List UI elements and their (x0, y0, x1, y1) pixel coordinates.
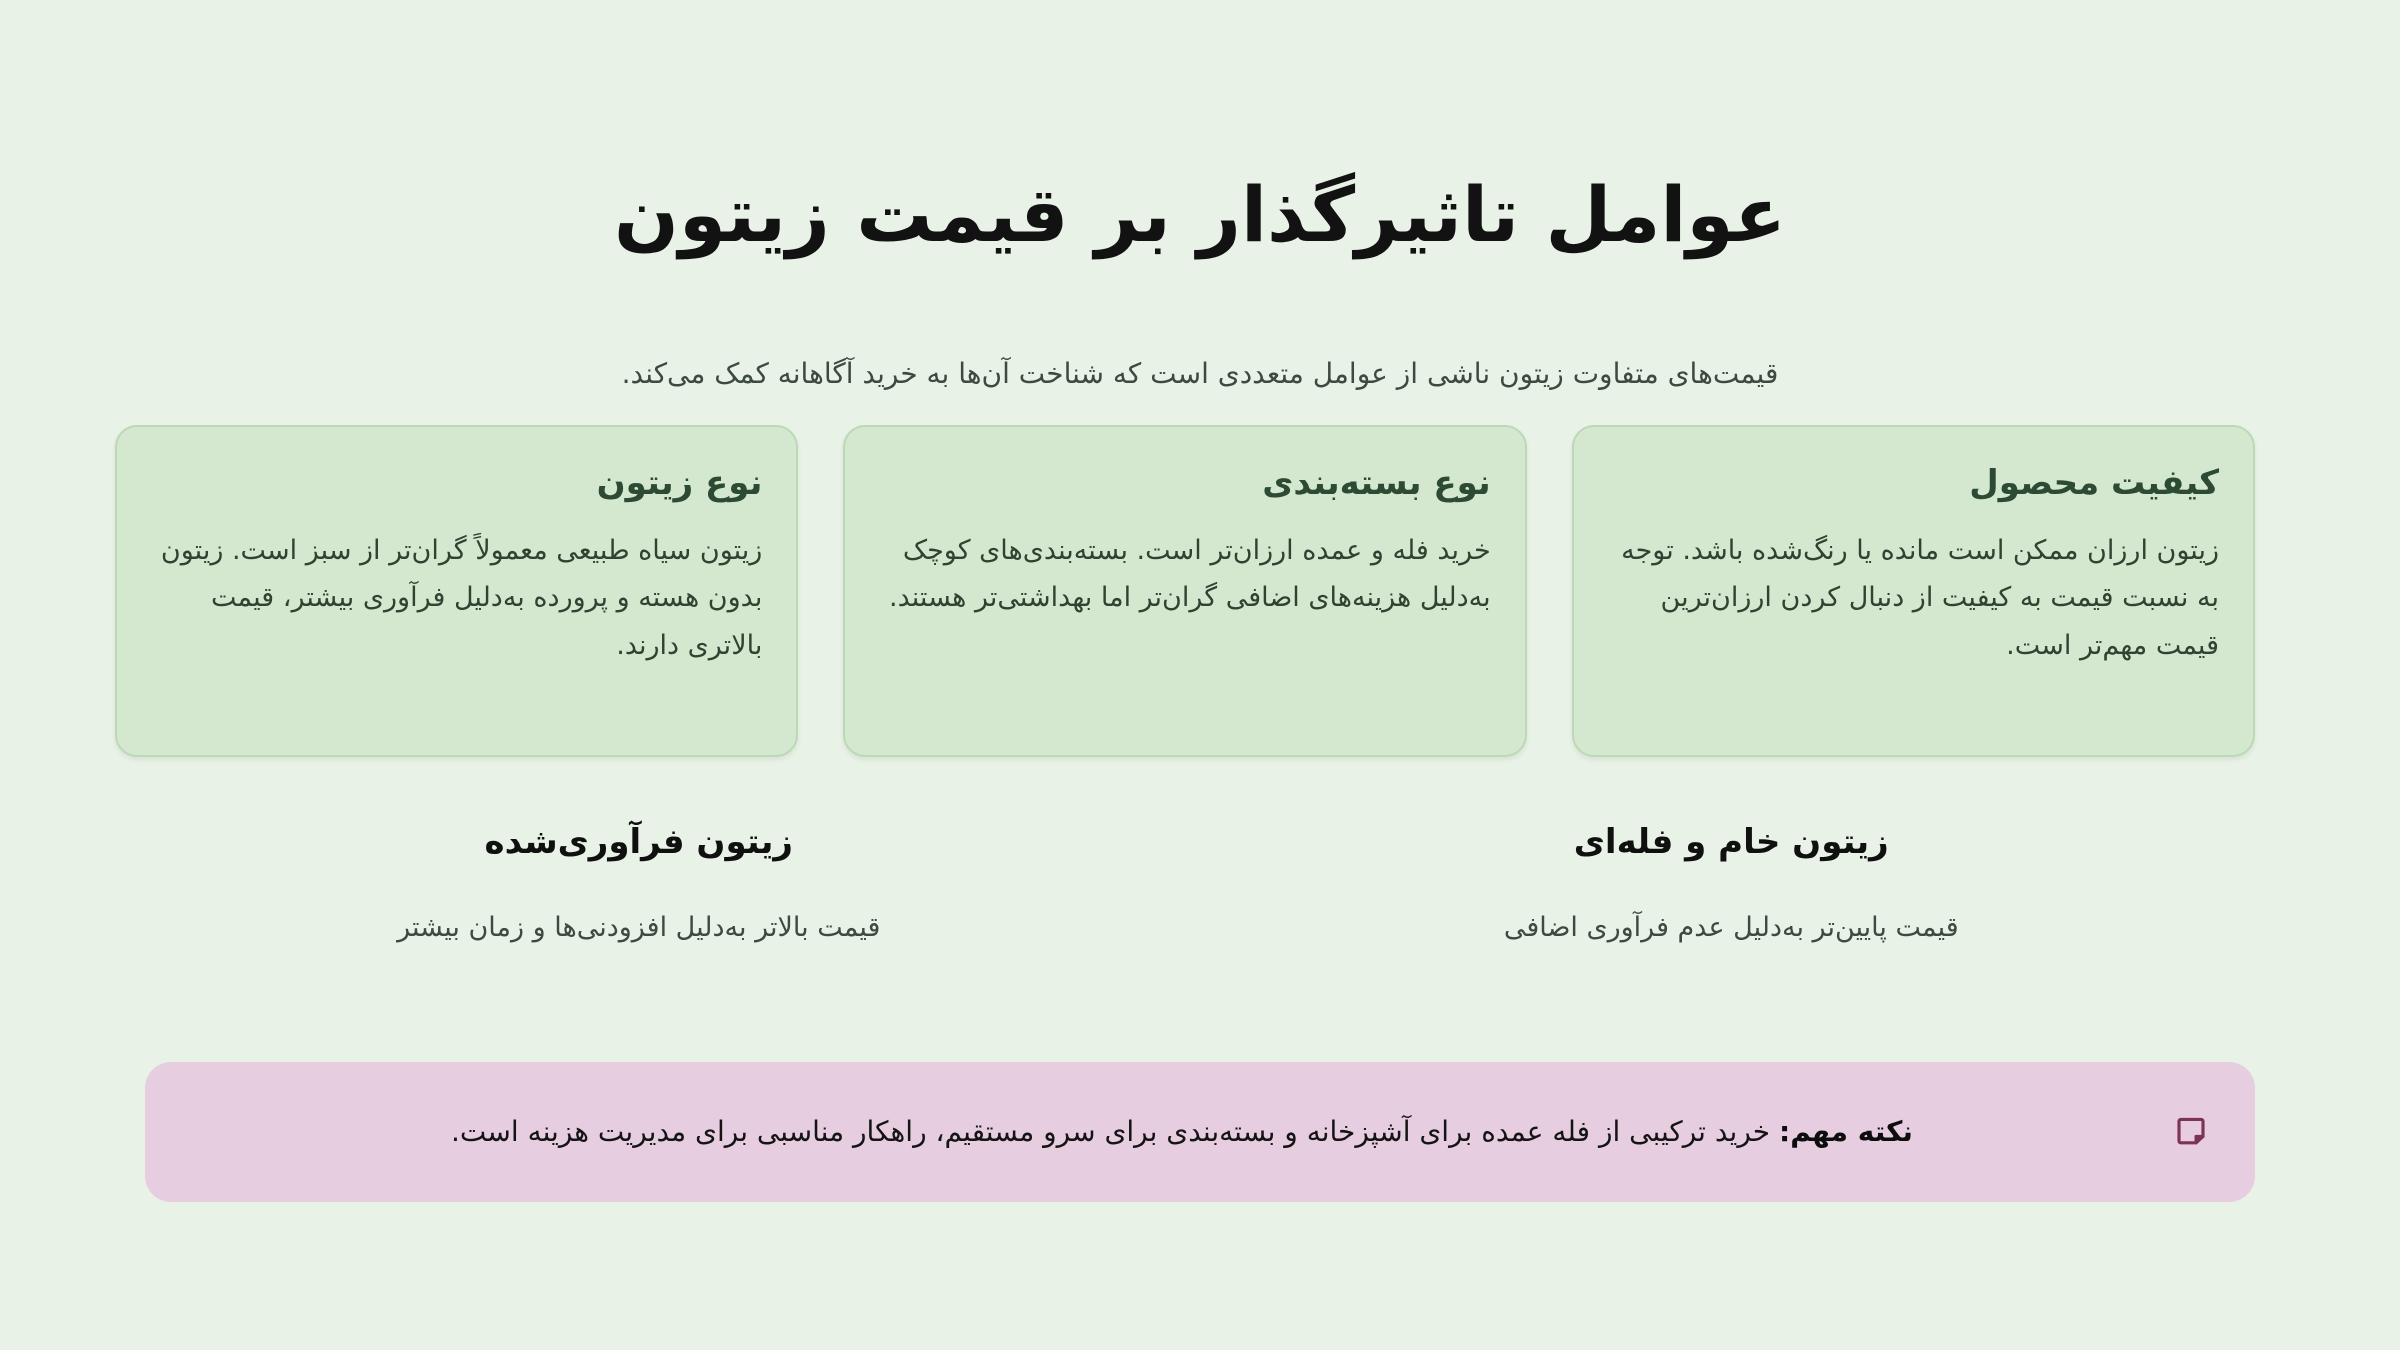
comparison-title: زیتون خام و فله‌ای (1208, 820, 2256, 864)
factor-card-body: خرید فله و عمده ارزان‌تر است. بسته‌بندی‌… (879, 527, 1490, 622)
factor-card-title: کیفیت محصول (1608, 461, 2219, 505)
sticky-note-icon (2173, 1114, 2209, 1150)
comparison-title: زیتون فرآوری‌شده (115, 820, 1163, 864)
comparison-description: قیمت پایین‌تر به‌دلیل عدم فرآوری اضافی (1208, 906, 2256, 949)
important-note-box: نکته مهم: خرید ترکیبی از فله عمده برای آ… (145, 1062, 2255, 1202)
page-subtitle: قیمت‌های متفاوت زیتون ناشی از عوامل متعد… (145, 353, 2255, 395)
factor-card-packaging-type: نوع بسته‌بندی خرید فله و عمده ارزان‌تر ا… (843, 425, 1526, 757)
factor-card-olive-type: کیفیت محصول زیتون ارزان ممکن است مانده ی… (1572, 425, 2255, 757)
factor-cards-row: کیفیت محصول زیتون ارزان ممکن است مانده ی… (115, 425, 2255, 757)
factor-card-product-quality: نوع زیتون زیتون سیاه طبیعی معمولاً گران‌… (115, 425, 798, 757)
comparison-item-processed: زیتون فرآوری‌شده قیمت بالاتر به‌دلیل افز… (115, 820, 1163, 949)
infographic-page: عوامل تاثیرگذار بر قیمت زیتون قیمت‌های م… (0, 0, 2400, 1350)
factor-card-title: نوع زیتون (151, 461, 762, 505)
page-title: عوامل تاثیرگذار بر قیمت زیتون (145, 171, 2255, 258)
comparison-row: زیتون خام و فله‌ای قیمت پایین‌تر به‌دلیل… (115, 820, 2255, 949)
comparison-item-raw-bulk: زیتون خام و فله‌ای قیمت پایین‌تر به‌دلیل… (1208, 820, 2256, 949)
factor-card-body: زیتون سیاه طبیعی معمولاً گران‌تر از سبز … (151, 527, 762, 669)
note-text: نکته مهم: خرید ترکیبی از فله عمده برای آ… (191, 1110, 2173, 1155)
factor-card-title: نوع بسته‌بندی (879, 461, 1490, 505)
comparison-description: قیمت بالاتر به‌دلیل افزودنی‌ها و زمان بی… (115, 906, 1163, 949)
note-body: خرید ترکیبی از فله عمده برای آشپزخانه و … (451, 1115, 1779, 1148)
factor-card-body: زیتون ارزان ممکن است مانده یا رنگ‌شده با… (1608, 527, 2219, 669)
note-label: نکته مهم: (1779, 1115, 1913, 1148)
